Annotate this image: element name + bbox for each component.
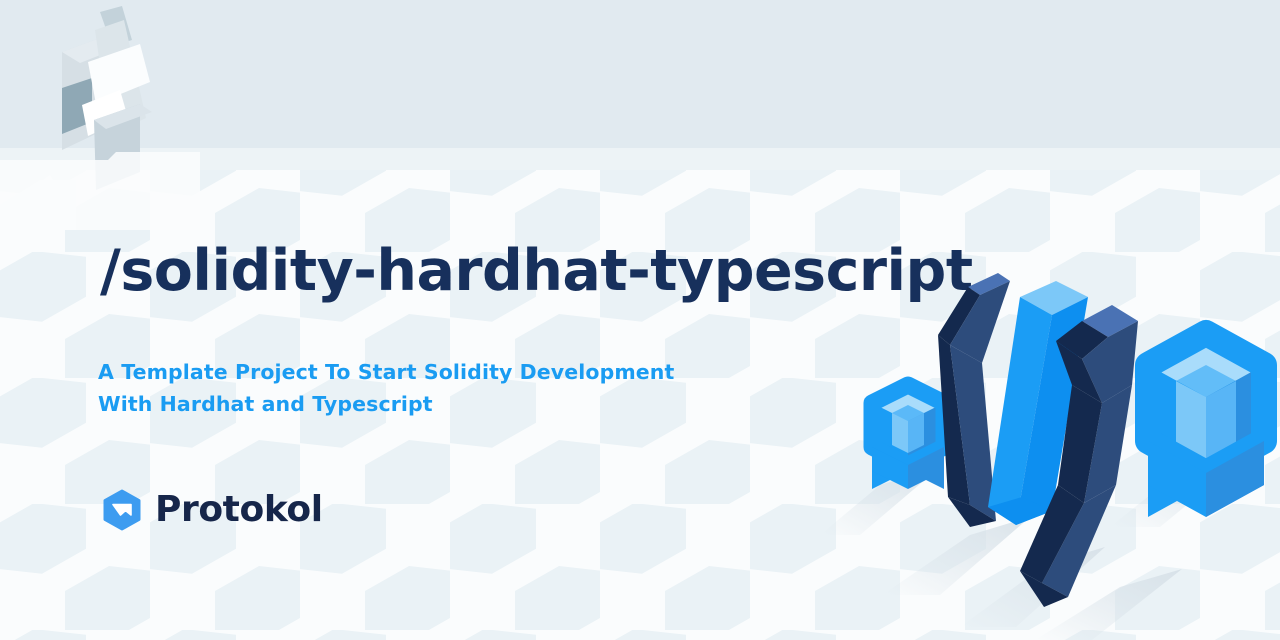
subtitle-line-1: A Template Project To Start Solidity Dev… (98, 356, 738, 388)
page-subtitle: A Template Project To Start Solidity Dev… (98, 356, 738, 420)
banner-content: /solidity-hardhat-typescript A Template … (0, 0, 1280, 640)
brand-name: Protokol (155, 492, 323, 528)
isometric-code-brackets-icon (820, 235, 1280, 640)
project-banner: /solidity-hardhat-typescript A Template … (0, 0, 1280, 640)
subtitle-line-2: With Hardhat and Typescript (98, 388, 738, 420)
left-hex-ring (872, 385, 944, 489)
right-hex-ring (1148, 333, 1264, 517)
hexagon-chevron-icon (100, 488, 144, 532)
brand-logo: Protokol (100, 488, 323, 532)
